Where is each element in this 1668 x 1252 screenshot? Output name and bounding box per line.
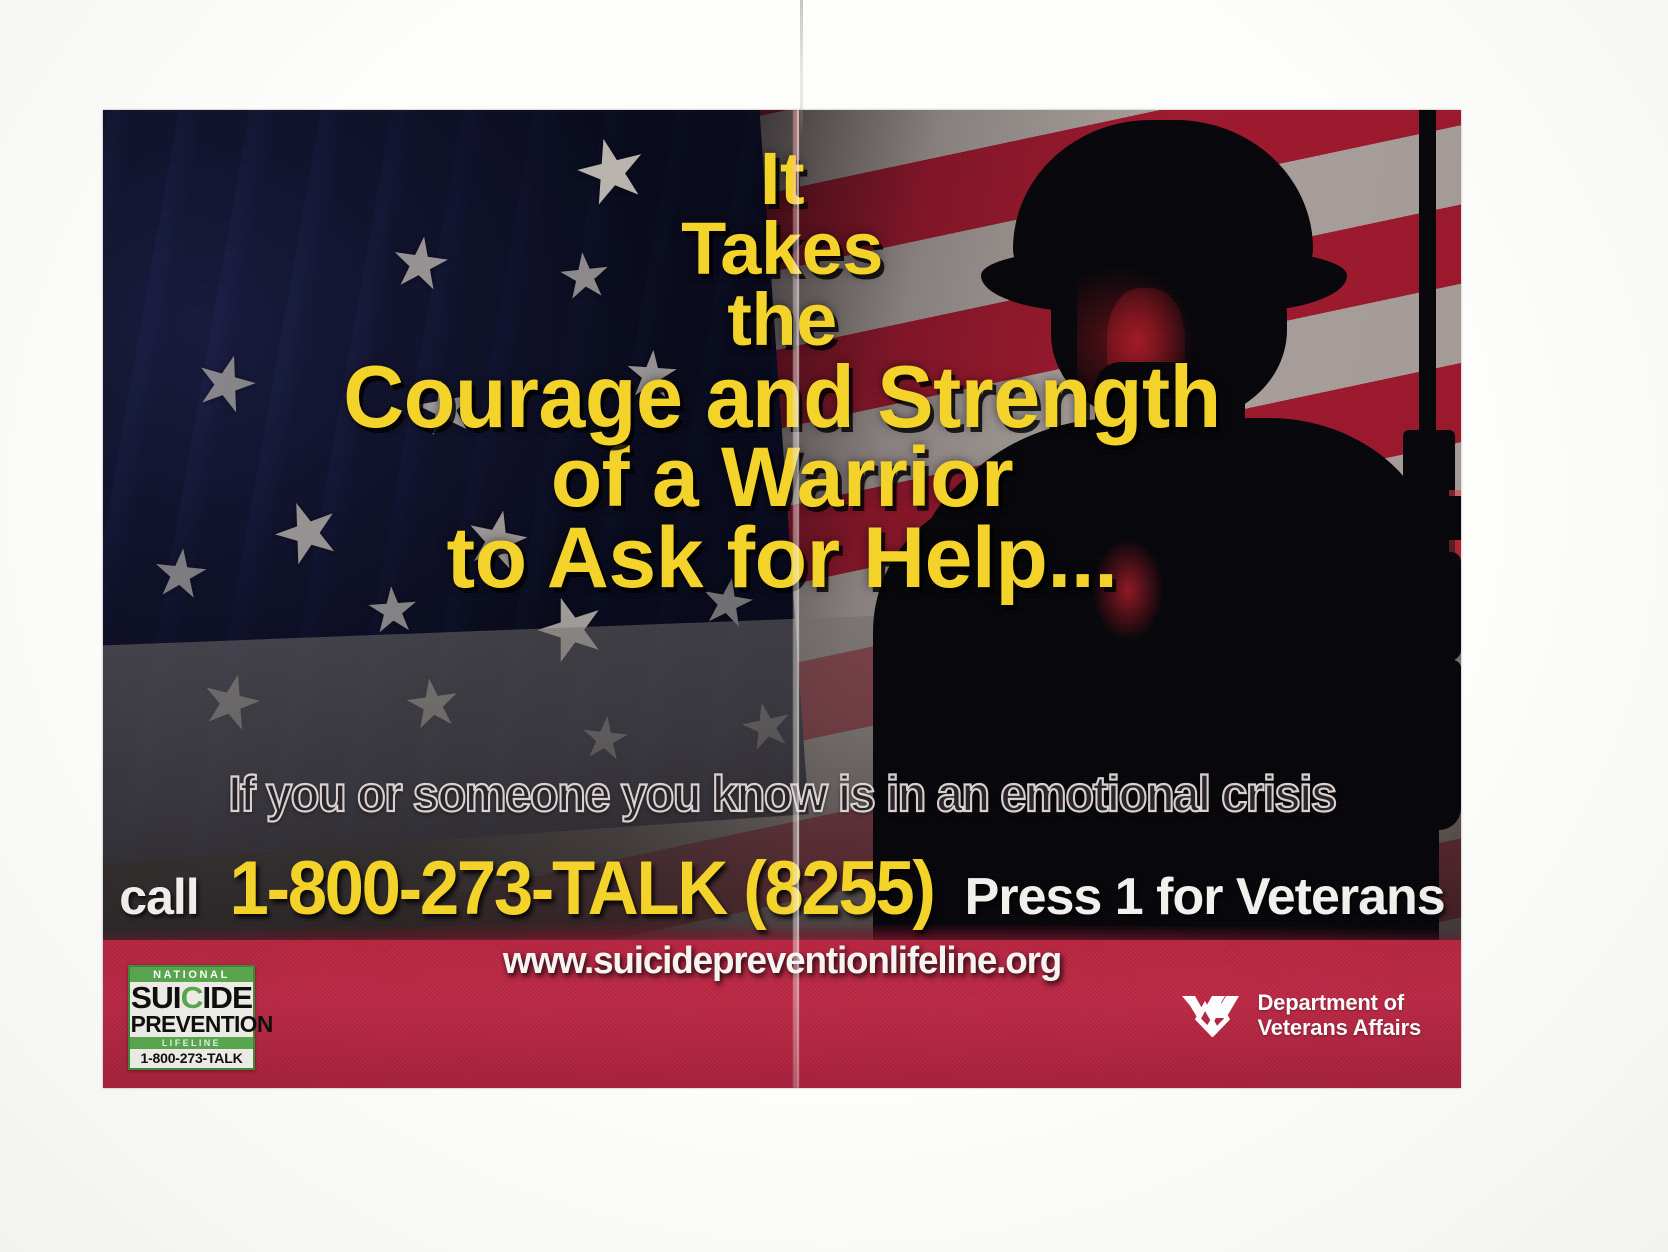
headline-line-6: to Ask for Help... [103,518,1461,600]
logo-suicide-c-glyph: C [181,980,203,1015]
call-to-action-line: call 1-800-273-TALK (8255) Press 1 for V… [103,845,1461,932]
lifeline-website-url[interactable]: www.suicidepreventionlifeline.org [123,940,1440,983]
va-logo-block: Department of Veterans Affairs [1181,990,1421,1040]
headline-line-3: the [103,285,1461,355]
headline-line-2: Takes [103,214,1461,284]
logo-lifeline-label: LIFELINE [130,1037,253,1049]
headline-line-4: Courage and Strength [130,355,1434,439]
va-chevron-logo-icon [1181,993,1243,1037]
headline-line-5: of a Warrior [103,438,1461,518]
logo-prevention-word: PREVENTION [131,1013,253,1037]
logo-phone-number: 1-800-273-TALK [130,1049,253,1068]
va-line-1: Department of [1257,990,1404,1015]
headline-line-1: It [103,144,1461,214]
logo-suicide-word: SUICIDE [129,982,254,1013]
call-prefix-label: call [119,869,198,925]
logo-suicide-part-2: IDE [202,980,252,1015]
press-one-label: Press 1 for Veterans [965,868,1445,926]
logo-suicide-part-1: SUI [131,980,181,1015]
va-line-2: Veterans Affairs [1257,1015,1421,1040]
headline-block: It Takes the Courage and Strength of a W… [103,144,1461,600]
poster-card: ★ ★ ★ ★ ★ ★ ★ ★ ★ ★ ★ ★ ★ ★ ★ ★ [103,110,1461,1088]
national-suicide-prevention-lifeline-logo: NATIONAL SUICIDE PREVENTION LIFELINE 1-8… [128,965,255,1070]
va-logo-text: Department of Veterans Affairs [1257,990,1421,1040]
hotline-phone-number[interactable]: 1-800-273-TALK (8255) [230,845,934,932]
crisis-statement: If you or someone you know is in an emot… [144,765,1421,823]
scanned-page: ★ ★ ★ ★ ★ ★ ★ ★ ★ ★ ★ ★ ★ ★ ★ ★ [0,0,1668,1252]
